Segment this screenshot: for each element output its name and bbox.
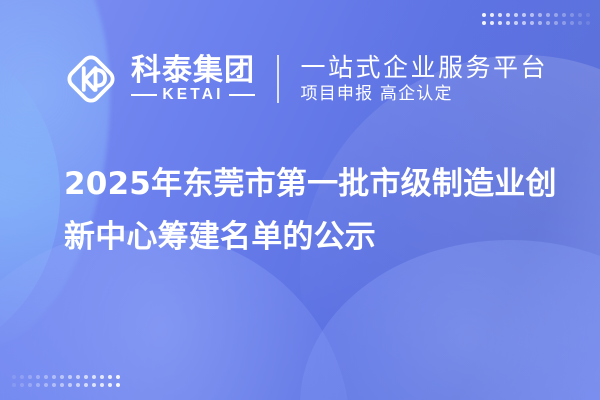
decorative-dot [514, 21, 519, 26]
decorative-dot [554, 21, 559, 26]
decorative-blob-left-inner [0, 30, 60, 360]
decorative-dot [522, 13, 527, 18]
decorative-dot [490, 21, 495, 26]
ketai-diamond-monogram-icon [62, 50, 120, 108]
decorative-dot [68, 375, 73, 380]
decorative-dot [20, 375, 25, 380]
decorative-dot [482, 13, 487, 18]
decorative-dot [498, 21, 503, 26]
decorative-dot [506, 13, 511, 18]
decorative-dot [562, 13, 567, 18]
decorative-dot [570, 21, 575, 26]
decorative-dot [44, 375, 49, 380]
decorative-dot [482, 21, 487, 26]
tagline-primary: 一站式企业服务平台 [301, 54, 549, 82]
decorative-dot [76, 375, 81, 380]
announcement-title: 2025年东莞市第一批市级制造业创新中心筹建名单的公示 [64, 158, 564, 265]
decorative-dot [562, 21, 567, 26]
decorative-dot [68, 383, 73, 388]
decorative-dot [498, 13, 503, 18]
decorative-dot [44, 383, 49, 388]
decorative-dot [52, 383, 57, 388]
dot-grid-top-right [480, 11, 592, 27]
decorative-dot [546, 21, 551, 26]
decorative-dot [100, 375, 105, 380]
decorative-dot [586, 13, 591, 18]
announcement-banner: 科泰集团 KETAI 一站式企业服务平台 项目申报 高企认定 2025年东莞市第… [0, 0, 600, 400]
decorative-dot [530, 21, 535, 26]
decorative-dot [60, 375, 65, 380]
decorative-dot [506, 21, 511, 26]
decorative-dot [100, 383, 105, 388]
decorative-dot [12, 375, 17, 380]
decorative-dot [578, 13, 583, 18]
decorative-dot [586, 21, 591, 26]
decorative-dot [108, 375, 113, 380]
decorative-dot [84, 375, 89, 380]
brand-name-cn: 科泰集团 [131, 55, 255, 86]
decorative-dot [530, 13, 535, 18]
decorative-dot [546, 13, 551, 18]
brand-name-en-row: KETAI [131, 87, 255, 103]
decorative-dot [92, 375, 97, 380]
decorative-dot [554, 13, 559, 18]
decorative-dot [116, 383, 121, 388]
decorative-dot [28, 375, 33, 380]
decorative-dot [28, 383, 33, 388]
decorative-dot [538, 13, 543, 18]
decorative-dot [578, 21, 583, 26]
decorative-dot [522, 21, 527, 26]
decorative-dot [490, 13, 495, 18]
brand-wordmark: 科泰集团 KETAI [131, 55, 255, 103]
tagline-secondary: 项目申报 高企认定 [301, 85, 549, 104]
wordmark-rule-left [131, 94, 157, 97]
decorative-dot [36, 383, 41, 388]
wordmark-rule-right [229, 94, 255, 97]
decorative-dot [514, 13, 519, 18]
decorative-dot [92, 383, 97, 388]
decorative-dot [36, 375, 41, 380]
decorative-dot [538, 21, 543, 26]
decorative-dot [60, 383, 65, 388]
header-divider [277, 55, 279, 103]
decorative-dot [20, 383, 25, 388]
brand-name-en: KETAI [162, 87, 223, 103]
decorative-dot [108, 383, 113, 388]
brand-tagline: 一站式企业服务平台 项目申报 高企认定 [301, 54, 549, 104]
decorative-dot [12, 383, 17, 388]
decorative-dot [570, 13, 575, 18]
banner-header: 科泰集团 KETAI 一站式企业服务平台 项目申报 高企认定 [62, 42, 600, 116]
decorative-dot [116, 375, 121, 380]
decorative-dot [76, 383, 81, 388]
dot-grid-bottom-left [10, 373, 122, 389]
brand-logo: 科泰集团 KETAI [62, 50, 255, 108]
decorative-dot [52, 375, 57, 380]
decorative-dot [84, 383, 89, 388]
